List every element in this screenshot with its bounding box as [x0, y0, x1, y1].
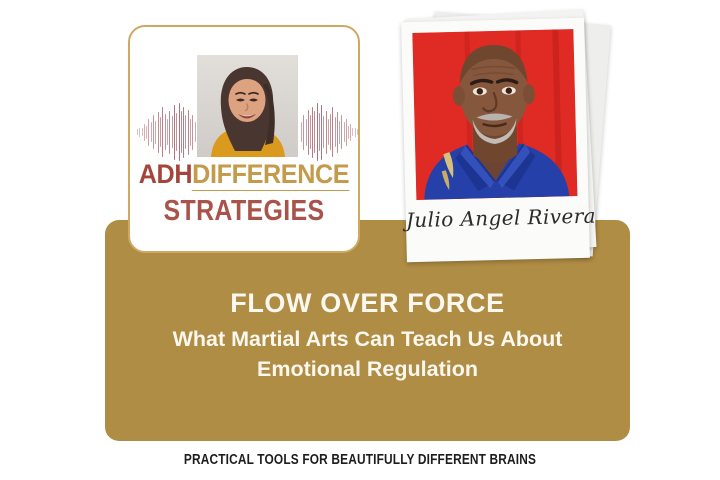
- host-photo: [197, 55, 298, 157]
- episode-subline-2: Emotional Regulation: [105, 355, 630, 385]
- show-tagline: PRACTICAL TOOLS FOR BEAUTIFULLY DIFFEREN…: [65, 452, 655, 468]
- guest-photo: [412, 29, 577, 200]
- episode-title-block: FLOW OVER FORCE What Martial Arts Can Te…: [105, 288, 630, 384]
- episode-subline-1: What Martial Arts Can Teach Us About: [105, 325, 630, 355]
- polaroid-front-frame: Julio Angel Rivera: [401, 18, 590, 262]
- waveform-left-icon: [136, 101, 196, 163]
- logo-wordmark: ADHDIFFERENCE STRATEGIES: [130, 161, 358, 226]
- logo-text-adh: ADH: [139, 159, 192, 189]
- logo-text-difference: DIFFERENCE: [192, 159, 349, 191]
- episode-headline: FLOW OVER FORCE: [105, 288, 630, 319]
- guest-signature: Julio Angel Rivera: [406, 204, 590, 232]
- waveform-right-icon: [300, 101, 358, 163]
- podcast-episode-graphic: ADHDIFFERENCE STRATEGIES: [0, 0, 720, 480]
- logo-line-primary: ADHDIFFERENCE: [136, 161, 353, 188]
- guest-polaroid-stack: Julio Angel Rivera: [398, 8, 613, 266]
- podcast-logo-card: ADHDIFFERENCE STRATEGIES: [128, 25, 360, 253]
- guest-photo-illustration: [412, 29, 577, 200]
- logo-text-strategies: STRATEGIES: [146, 197, 342, 226]
- host-photo-illustration: [197, 55, 298, 157]
